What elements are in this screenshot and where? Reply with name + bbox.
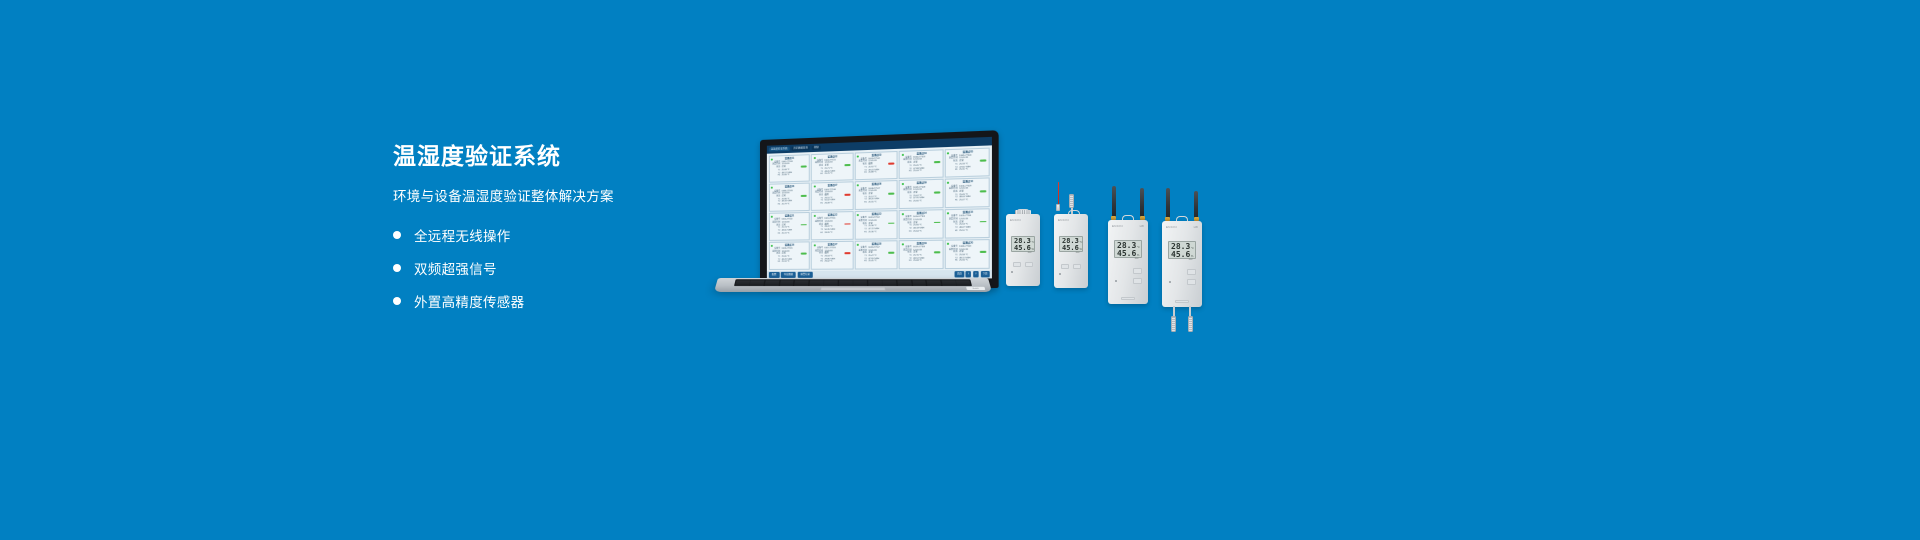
lcd-humidity-value: 45.6: [1062, 245, 1079, 252]
sensor-card[interactable]: 监测点19设备号D019-77118采集时间12:05:33状态正常T125.7…: [899, 239, 944, 268]
laptop-lid: 温湿度验证系统 历史数据查询 帮助 监测点01设备号D001-77100采集时间…: [760, 130, 999, 288]
lcd-humidity-value: 45.6: [1117, 250, 1136, 258]
device-led-icon: [1169, 281, 1171, 283]
sensor-card[interactable]: 监测点18设备号D018-77117采集时间12:05:33状态正常T125.4…: [854, 240, 898, 269]
list-item: 外置高精度传感器: [393, 291, 723, 311]
sensor-card-row: H125.66 ℃: [772, 174, 807, 178]
device-bottom-strip: [1121, 297, 1135, 300]
status-badge: [844, 253, 850, 255]
keyboard-key[interactable]: [868, 285, 882, 286]
lcd-status-label: REC: [1117, 258, 1139, 260]
hero-copy: 温湿度验证系统 环境与设备温湿度验证整体解决方案 全远程无线操作 双频超强信号 …: [393, 143, 723, 324]
device-recorder-compact: ENCIN 28.3 ℃ 45.6 % REC: [1006, 214, 1040, 286]
lcd-humidity-value: 45.6: [1014, 245, 1031, 252]
probe-tip-right-icon: [1188, 316, 1193, 332]
keyboard-key[interactable]: [839, 285, 853, 286]
probe-plug-icon: [1056, 204, 1060, 211]
sensor-card[interactable]: 监测点13设备号D013-77112采集时间12:05:33状态正常T125.3…: [854, 210, 898, 239]
sensor-card-row: H125.72 ℃: [772, 232, 807, 235]
export-data-button[interactable]: 导出数据: [781, 272, 796, 277]
sensor-status-led-icon: [813, 215, 815, 217]
keyboard-key[interactable]: [809, 285, 823, 286]
sensor-card-row: H125.60 ℃: [903, 200, 940, 204]
feature-bullet-list: 全远程无线操作 双频超强信号 外置高精度传感器: [393, 225, 723, 311]
sensor-field-key: H1: [772, 261, 780, 264]
lcd-humidity-value: 45.6: [1171, 251, 1190, 259]
keyboard-key[interactable]: [898, 285, 912, 286]
status-badge: [844, 223, 850, 225]
device-brand-right: H8: [1140, 224, 1144, 228]
keyboard-key[interactable]: [942, 285, 956, 286]
sensor-status-led-icon: [771, 158, 773, 160]
sensor-field-key: H1: [859, 261, 867, 264]
keyboard-key[interactable]: [927, 285, 941, 286]
keyboard-key[interactable]: [883, 285, 897, 286]
status-badge: [888, 222, 894, 224]
device-button-right[interactable]: [1073, 264, 1081, 269]
status-badge: [844, 164, 850, 166]
bullet-label: 全远程无线操作: [414, 225, 511, 245]
bullet-label: 外置高精度传感器: [414, 291, 524, 311]
bullet-dot-icon: [393, 264, 401, 272]
sensor-card[interactable]: 监测点17设备号D017-77116采集时间12:05:33状态超限T126.0…: [811, 241, 853, 270]
sensor-field-value: 25.72 ℃: [782, 232, 807, 235]
page-first-button[interactable]: 首页: [955, 272, 964, 278]
bullet-dot-icon: [393, 297, 401, 305]
sensor-card-row: H125.55 ℃: [859, 201, 895, 205]
hero-banner: 温湿度验证系统 环境与设备温湿度验证整体解决方案 全远程无线操作 双频超强信号 …: [0, 0, 1920, 540]
device-lcd-display: 28.3 ℃ 45.6 % REC: [1168, 241, 1196, 259]
device-led-icon: [1011, 271, 1013, 273]
sensor-card-row: H125.44 ℃: [903, 170, 940, 174]
lcd-humidity-row: 45.6 %: [1014, 245, 1032, 252]
sensor-card-title: 监测点17: [815, 244, 850, 247]
lcd-temperature-unit: ℃: [1191, 248, 1194, 251]
keyboard-key[interactable]: [794, 285, 808, 286]
sensor-card[interactable]: 监测点08设备号D008-77107采集时间12:05:33状态正常T125.5…: [854, 180, 898, 210]
keyboard-key[interactable]: [750, 285, 764, 286]
laptop-screen: 温湿度验证系统 历史数据查询 帮助 监测点01设备号D001-77100采集时间…: [767, 137, 992, 279]
sensor-field-value: 25.36 ℃: [868, 231, 894, 234]
device-body: ENCIN 28.3 ℃ 45.6 % REC: [1054, 214, 1088, 288]
sensor-card[interactable]: 监测点14设备号D014-77113采集时间12:05:33状态正常T125.6…: [899, 209, 944, 239]
status-badge: [934, 161, 940, 163]
sensor-status-led-icon: [857, 244, 859, 246]
sensor-field-value: 25.56 ℃: [959, 260, 987, 263]
sensor-card-row: H126.02 ℃: [815, 261, 850, 264]
device-body: ENCIN 28.3 ℃ 45.6 % REC: [1006, 214, 1040, 286]
status-badge: [888, 192, 894, 194]
sensor-field-key: H1: [949, 230, 958, 233]
sensor-field-key: H1: [903, 260, 912, 263]
sensor-field-value: 25.66 ℃: [782, 174, 807, 177]
laptop-trackpad[interactable]: [820, 287, 886, 291]
laptop-keyboard[interactable]: [734, 279, 972, 286]
sensor-card-row: H125.70 ℃: [815, 172, 850, 176]
device-button-up[interactable]: [1187, 269, 1196, 275]
sensor-field-value: 26.20 ℃: [825, 231, 851, 234]
sensor-status-led-icon: [902, 213, 904, 215]
sensor-card-title: 监测点18: [859, 243, 895, 246]
device-button-up[interactable]: [1133, 268, 1142, 274]
antenna-left-icon: [1112, 186, 1116, 218]
sensor-field-value: 25.88 ℃: [868, 171, 894, 175]
status-badge: [801, 166, 807, 168]
device-brand-row: ENCIN H8: [1108, 224, 1148, 228]
antenna-right-icon: [1194, 191, 1198, 219]
sensor-status-led-icon: [771, 245, 773, 247]
keyboard-key[interactable]: [765, 285, 779, 286]
status-badge: [801, 195, 807, 197]
sensor-field-key: H1: [903, 200, 912, 203]
sensor-field-key: H1: [903, 230, 912, 233]
bullet-dot-icon: [393, 231, 401, 239]
alarm-log-button[interactable]: 报警记录: [798, 272, 813, 277]
sensor-field-key: H1: [815, 261, 823, 264]
lcd-temperature-unit: ℃: [1137, 247, 1140, 250]
device-led-icon: [1115, 280, 1117, 282]
sticker-label: RoHS: [973, 288, 979, 289]
sensor-field-value: 25.59 ℃: [782, 261, 807, 264]
sensor-card-title: 监测点19: [903, 243, 940, 246]
sensor-field-key: H1: [859, 201, 867, 204]
config-button[interactable]: 配置: [769, 272, 779, 277]
device-brand-left: ENCIN: [1112, 224, 1123, 228]
page-1-button[interactable]: 1: [966, 271, 972, 277]
sensor-field-key: H1: [772, 204, 780, 207]
sensor-field-value: 25.51 ℃: [959, 229, 987, 232]
sensor-card[interactable]: 监测点01设备号D001-77100采集时间12:05:33状态正常T125.6…: [768, 154, 809, 183]
lcd-humidity-row: 45.6 %: [1171, 251, 1193, 259]
bullet-label: 双频超强信号: [414, 258, 497, 278]
antenna-right-icon: [1140, 188, 1144, 218]
sensor-field-key: H1: [949, 169, 958, 172]
sensor-card-row: H125.59 ℃: [772, 261, 807, 264]
status-badge: [888, 252, 894, 254]
keyboard-key[interactable]: [735, 285, 749, 286]
toolbar-spacer: [814, 274, 953, 275]
sensor-field-value: 25.45 ℃: [868, 260, 894, 263]
device-lcd-display: 28.3 ℃ 45.6 % REC: [1114, 240, 1142, 258]
device-brand-row: ENCIN: [1006, 218, 1040, 222]
tab-monitor[interactable]: 温湿度验证系统: [769, 147, 790, 152]
device-button-down[interactable]: [1133, 278, 1142, 284]
sensor-card[interactable]: 监测点10设备号D010-77109采集时间12:05:33状态正常T125.4…: [945, 178, 991, 208]
sensor-card-row: H125.51 ℃: [949, 229, 987, 232]
sensor-card[interactable]: 监测点15设备号D015-77114采集时间12:05:33状态正常T125.5…: [945, 208, 991, 238]
keyboard-key[interactable]: [853, 285, 867, 286]
sensor-card-row: H125.56 ℃: [949, 260, 987, 263]
device-brand-left: ENCIN: [1166, 225, 1177, 229]
status-badge: [844, 194, 850, 196]
sensor-status-led-icon: [771, 216, 773, 218]
status-badge: [888, 163, 894, 165]
status-badge: [934, 252, 940, 254]
sensor-field-key: H1: [903, 170, 912, 173]
sensor-status-led-icon: [813, 244, 815, 246]
device-lcd-display: 28.3 ℃ 45.6 % REC: [1011, 236, 1035, 252]
sensor-card-grid: 监测点01设备号D001-77100采集时间12:05:33状态正常T125.6…: [768, 147, 990, 269]
status-badge: [801, 224, 807, 226]
sensor-card[interactable]: 监测点20设备号D020-77119采集时间12:05:33状态正常T125.5…: [945, 239, 991, 269]
sensor-field-value: 25.70 ℃: [825, 172, 851, 176]
sensor-status-led-icon: [902, 153, 904, 155]
sensor-field-key: H1: [859, 231, 867, 234]
sensor-field-value: 25.68 ℃: [913, 260, 940, 263]
sensor-card[interactable]: 监测点11设备号D011-77110采集时间12:05:33状态正常T125.7…: [768, 212, 809, 241]
status-badge: [980, 251, 987, 253]
lcd-humidity-row: 45.6 %: [1062, 245, 1080, 252]
device-recorder-wireless-a: ENCIN H8 28.3 ℃ 45.6 % REC: [1108, 186, 1148, 304]
keyboard-key[interactable]: [824, 285, 838, 286]
sensor-field-key: H1: [815, 173, 823, 176]
probe-tip-icon: [1069, 194, 1074, 208]
sensor-card-row: H126.20 ℃: [815, 231, 850, 234]
sensor-field-key: H1: [859, 172, 867, 175]
sensor-card-row: H126.08 ℃: [815, 202, 850, 206]
sensor-card-area: 监测点01设备号D001-77100采集时间12:05:33状态正常T125.6…: [767, 145, 992, 271]
device-led-icon: [1059, 273, 1061, 275]
sensor-field-key: H1: [772, 232, 780, 235]
status-badge: [980, 221, 987, 223]
sensor-field-value: 25.60 ℃: [913, 200, 940, 203]
lcd-humidity-row: 45.6 %: [1117, 250, 1139, 258]
page-2-button[interactable]: 2: [973, 271, 979, 277]
sensor-field-key: H1: [949, 199, 958, 202]
lcd-temperature-unit: ℃: [1080, 242, 1083, 245]
device-brand-row: ENCIN: [1054, 218, 1088, 222]
sensor-card[interactable]: 监测点04设备号D004-77103采集时间12:05:33状态正常T125.4…: [899, 149, 944, 179]
laptop-sticker: RoHS: [966, 287, 985, 290]
sensor-field-key: H1: [772, 175, 780, 178]
lcd-temperature-unit: ℃: [1032, 242, 1035, 245]
list-item: 全远程无线操作: [393, 225, 723, 245]
page-subtitle: 环境与设备温湿度验证整体解决方案: [393, 185, 723, 205]
sensor-card[interactable]: 监测点03设备号D003-77102采集时间12:05:33状态超限T125.9…: [854, 150, 898, 180]
lcd-humidity-unit: %: [1191, 256, 1193, 259]
lcd-humidity-unit: %: [1080, 249, 1082, 252]
sensor-status-led-icon: [813, 157, 815, 159]
lcd-status-label: REC: [1062, 252, 1080, 254]
sensor-device-group: ENCIN 28.3 ℃ 45.6 % REC: [1000, 186, 1230, 306]
status-badge: [980, 160, 987, 162]
sensor-card[interactable]: 监测点12设备号D012-77111采集时间12:05:33状态超限T126.2…: [811, 211, 853, 240]
device-button-right[interactable]: [1025, 262, 1033, 267]
list-item: 双频超强信号: [393, 258, 723, 278]
keyboard-row[interactable]: [735, 285, 971, 286]
device-button-down[interactable]: [1187, 279, 1196, 285]
device-brand-left: ENCIN: [1058, 218, 1069, 222]
device-recorder-wired-probe: ENCIN 28.3 ℃ 45.6 % REC: [1054, 200, 1088, 288]
sensor-field-value: 25.55 ℃: [868, 201, 894, 204]
lcd-humidity-unit: %: [1137, 255, 1139, 258]
status-badge: [934, 222, 940, 224]
sensor-field-value: 25.79 ℃: [782, 203, 807, 206]
sensor-status-led-icon: [902, 243, 904, 245]
sensor-card-row: H125.64 ℃: [903, 230, 940, 233]
lcd-status-label: REC: [1171, 259, 1193, 261]
status-badge: [934, 191, 940, 193]
sensor-field-value: 25.47 ℃: [959, 199, 987, 202]
sensor-card[interactable]: 监测点05设备号D005-77104采集时间12:05:33状态正常T125.3…: [945, 147, 991, 178]
sensor-card-row: H125.79 ℃: [772, 203, 807, 207]
keyboard-key[interactable]: [779, 285, 793, 286]
status-badge: [801, 253, 807, 255]
page-next-button[interactable]: 下页: [980, 271, 989, 277]
sensor-field-key: H1: [949, 260, 958, 263]
sensor-card-title: 监测点16: [772, 244, 807, 247]
device-brand-left: ENCIN: [1010, 218, 1021, 222]
device-body: ENCIN H8 28.3 ℃ 45.6 % REC: [1162, 221, 1202, 307]
sensor-field-value: 25.31 ℃: [959, 168, 987, 172]
antenna-left-icon: [1166, 188, 1170, 219]
sensor-card-row: H125.31 ℃: [949, 168, 987, 172]
device-brand-right: H8: [1194, 225, 1198, 229]
sensor-field-key: H1: [815, 232, 823, 235]
sensor-card-title: 监测点20: [949, 242, 987, 245]
keyboard-key[interactable]: [912, 285, 926, 286]
page-title: 温湿度验证系统: [393, 143, 723, 171]
device-button-left[interactable]: [1013, 262, 1021, 267]
device-bottom-strip: [1175, 300, 1189, 303]
device-brand-row: ENCIN H8: [1162, 225, 1202, 229]
sensor-card[interactable]: 监测点09设备号D009-77108采集时间12:05:33状态正常T125.6…: [899, 179, 944, 209]
lcd-status-label: REC: [1014, 252, 1032, 254]
device-lcd-display: 28.3 ℃ 45.6 % REC: [1059, 236, 1083, 252]
sensor-card-row: H125.36 ℃: [859, 231, 895, 234]
keyboard-key[interactable]: [957, 285, 971, 286]
sensor-card-row: H125.88 ℃: [859, 171, 895, 175]
probe-wire-icon: [1058, 182, 1059, 206]
tab-history[interactable]: 历史数据查询: [791, 146, 809, 151]
sensor-card[interactable]: 监测点02设备号D002-77101采集时间12:05:33状态正常T125.7…: [811, 152, 853, 182]
sensor-field-value: 26.02 ℃: [825, 261, 851, 264]
probe-tip-left-icon: [1171, 316, 1176, 332]
device-button-left[interactable]: [1061, 264, 1069, 269]
laptop-base: RoHS: [714, 278, 992, 292]
sensor-status-led-icon: [857, 155, 859, 157]
sensor-card[interactable]: 监测点16设备号D016-77115采集时间12:05:33状态正常T125.6…: [768, 241, 809, 269]
sensor-card[interactable]: 监测点07设备号D007-77106采集时间12:05:33状态超限T126.1…: [811, 182, 853, 211]
sensor-field-key: H1: [815, 203, 823, 206]
sensor-field-value: 25.64 ℃: [913, 230, 940, 233]
device-recorder-wireless-b: ENCIN H8 28.3 ℃ 45.6 % REC: [1162, 188, 1202, 307]
tab-help[interactable]: 帮助: [812, 145, 821, 150]
laptop-product-image: 温湿度验证系统 历史数据查询 帮助 监测点01设备号D001-77100采集时间…: [718, 140, 988, 300]
sensor-field-value: 25.44 ℃: [913, 170, 940, 174]
status-badge: [980, 190, 987, 192]
sensor-card-row: H125.68 ℃: [903, 260, 940, 263]
sensor-card-row: H125.47 ℃: [949, 199, 987, 203]
sensor-card[interactable]: 监测点06设备号D006-77105采集时间12:05:33状态正常T125.8…: [768, 183, 809, 212]
device-body: ENCIN H8 28.3 ℃ 45.6 % REC: [1108, 220, 1148, 304]
sensor-field-value: 26.08 ℃: [825, 202, 851, 205]
sensor-card-row: H125.45 ℃: [859, 260, 895, 263]
lcd-humidity-unit: %: [1032, 249, 1034, 252]
